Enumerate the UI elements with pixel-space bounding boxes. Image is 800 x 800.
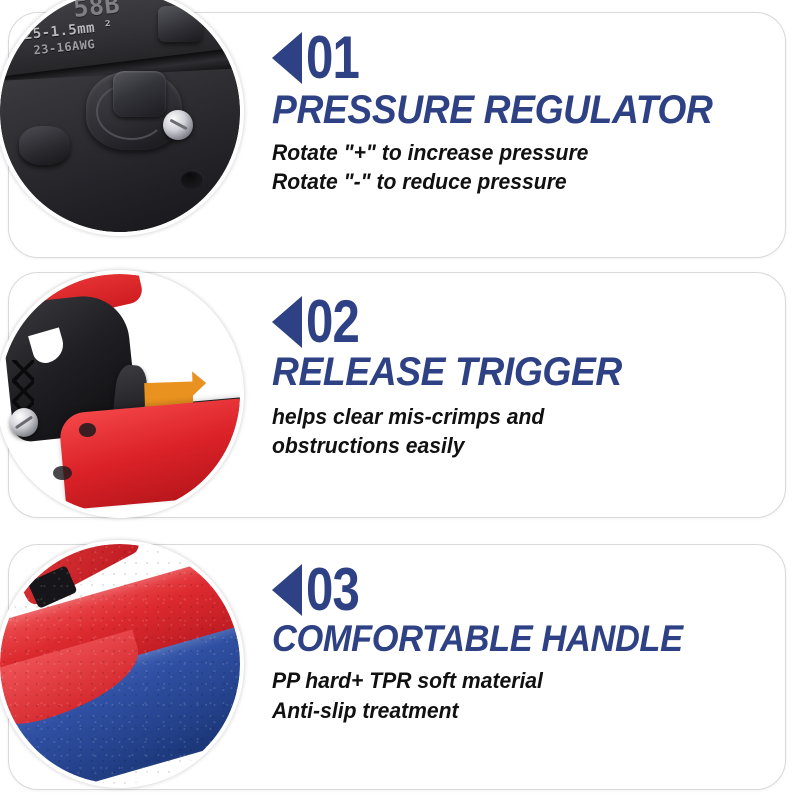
feature-subtitle-line: PP hard+ TPR soft material: [272, 666, 754, 695]
body-hole: [180, 170, 204, 189]
lower-red-handle: [59, 398, 240, 510]
pressure-regulator-photo: 58B 25-1.5mm ² 23-16AWG: [0, 0, 244, 236]
feature-subtitle-line: Rotate "-" to reduce pressure: [272, 167, 754, 196]
left-triangle-icon: [272, 296, 302, 348]
feature-subtitle-line: obstructions easily: [272, 431, 754, 460]
adjust-screw: [163, 110, 193, 140]
photo-clip: 58B 25-1.5mm ² 23-16AWG: [0, 0, 240, 232]
left-triangle-icon: [272, 564, 302, 616]
feature-title: RELEASE TRIGGER: [272, 351, 739, 393]
feature-title: COMFORTABLE HANDLE: [272, 619, 739, 658]
feature-subtitles: helps clear mis-crimps and obstructions …: [272, 402, 774, 461]
step-badge-1: 01: [272, 30, 774, 85]
top-right-rivet: [158, 6, 201, 42]
step-number: 03: [306, 562, 359, 617]
step-badge-2: 02: [272, 294, 774, 349]
step-badge-3: 03: [272, 562, 774, 617]
left-triangle-icon: [272, 32, 302, 84]
feature-content-2: 02 RELEASE TRIGGER helps clear mis-crimp…: [272, 294, 774, 461]
feature-subtitle-line: Anti-slip treatment: [272, 696, 754, 725]
jaw-notch: [29, 327, 69, 365]
feature-content-1: 01 PRESSURE REGULATOR Rotate "+" to incr…: [272, 30, 774, 197]
feature-subtitle-line: helps clear mis-crimps and: [272, 402, 754, 431]
step-number: 02: [306, 294, 359, 349]
feature-subtitles: PP hard+ TPR soft material Anti-slip tre…: [272, 666, 774, 725]
feature-content-3: 03 COMFORTABLE HANDLE PP hard+ TPR soft …: [272, 562, 774, 725]
left-rivet-button: [19, 126, 69, 164]
feature-title: PRESSURE REGULATOR: [272, 89, 739, 131]
infographic-page: 58B 25-1.5mm ² 23-16AWG 01 PRESSURE REGU…: [0, 0, 800, 800]
dial-knob: [113, 71, 166, 117]
comfortable-handle-photo: [0, 540, 244, 788]
feature-subtitle-line: Rotate "+" to increase pressure: [272, 138, 754, 167]
feature-subtitles: Rotate "+" to increase pressure Rotate "…: [272, 138, 774, 197]
release-trigger-photo: [0, 270, 244, 518]
photo-clip: [0, 274, 240, 514]
grip-texture-overlay: [0, 544, 240, 784]
step-number: 01: [306, 30, 359, 85]
photo-clip: [0, 544, 240, 784]
frame-hole-a: [79, 423, 96, 437]
